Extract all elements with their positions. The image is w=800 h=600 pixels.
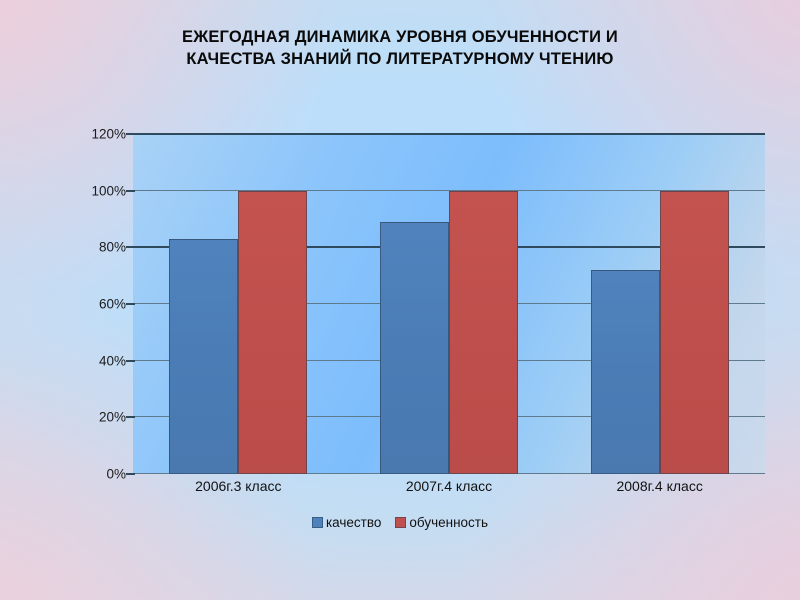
y-axis-tick	[126, 190, 135, 192]
bar-качество-2008г.4 класс	[591, 270, 660, 474]
bar-обученность-2007г.4 класс	[449, 191, 518, 474]
bar-chart: 0%20%40%60%80%100%120% 2006г.3 класс2007…	[0, 0, 800, 600]
bar-обученность-2008г.4 класс	[660, 191, 729, 474]
y-axis-tick	[126, 303, 135, 305]
y-axis-tick-label: 120%	[66, 127, 126, 142]
legend-item-обученность[interactable]: обученность	[395, 515, 488, 530]
y-axis-tick	[126, 473, 135, 475]
y-axis-tick	[126, 360, 135, 362]
y-axis-tick-label: 40%	[66, 353, 126, 368]
y-axis-tick	[126, 416, 135, 418]
bar-качество-2006г.3 класс	[169, 239, 238, 474]
bar-качество-2007г.4 класс	[380, 222, 449, 474]
legend-swatch-icon	[395, 517, 406, 528]
legend-item-качество[interactable]: качество	[312, 515, 381, 530]
x-axis-category-label: 2008г.4 класс	[616, 478, 702, 494]
y-axis-tick-label: 80%	[66, 240, 126, 255]
x-axis: 2006г.3 класс2007г.4 класс2008г.4 класс	[133, 478, 765, 504]
page-title-line-2: КАЧЕСТВА ЗНАНИЙ ПО ЛИТЕРАТУРНОМУ ЧТЕНИЮ	[60, 48, 740, 70]
bar-обученность-2006г.3 класс	[238, 191, 307, 474]
y-axis-tick-label: 60%	[66, 297, 126, 312]
y-axis-tick	[126, 133, 135, 135]
y-axis-tick-label: 100%	[66, 183, 126, 198]
y-axis: 0%20%40%60%80%100%120%	[62, 134, 126, 474]
legend-swatch-icon	[312, 517, 323, 528]
legend-label: качество	[326, 515, 381, 530]
gridline	[133, 133, 765, 135]
plot-area	[133, 134, 765, 474]
x-axis-category-label: 2006г.3 класс	[195, 478, 281, 494]
y-axis-tick-label: 20%	[66, 410, 126, 425]
y-axis-tick	[126, 246, 135, 248]
page-title: ЕЖЕГОДНАЯ ДИНАМИКА УРОВНЯ ОБУЧЕННОСТИ И …	[60, 26, 740, 71]
chart-legend: качествообученность	[0, 515, 800, 530]
slide-canvas: ЕЖЕГОДНАЯ ДИНАМИКА УРОВНЯ ОБУЧЕННОСТИ И …	[0, 0, 800, 600]
y-axis-tick-label: 0%	[66, 467, 126, 482]
x-axis-category-label: 2007г.4 класс	[406, 478, 492, 494]
page-title-line-1: ЕЖЕГОДНАЯ ДИНАМИКА УРОВНЯ ОБУЧЕННОСТИ И	[60, 26, 740, 48]
legend-label: обученность	[409, 515, 488, 530]
